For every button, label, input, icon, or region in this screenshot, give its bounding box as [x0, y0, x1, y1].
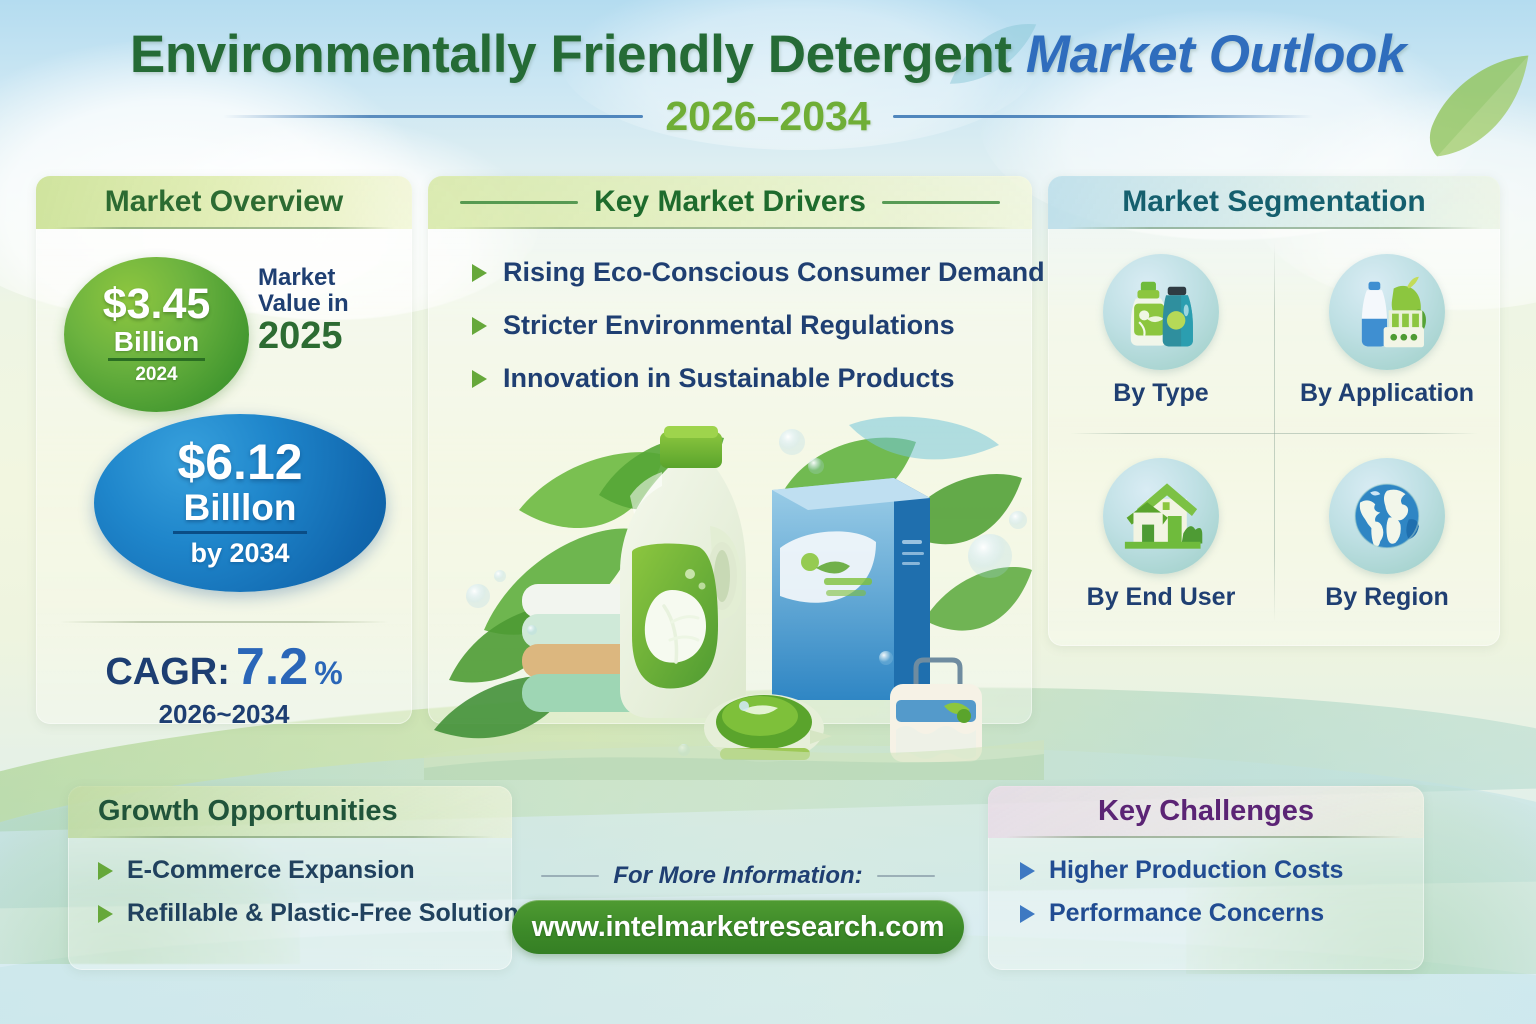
- growth-label: E-Commerce Expansion: [127, 856, 415, 885]
- website-url-button[interactable]: www.intelmarketresearch.com: [512, 900, 964, 954]
- market-value-2034-year: by 2034: [190, 538, 289, 569]
- more-information-label: For More Information:: [613, 862, 862, 890]
- cagr-row: CAGR: 7.2 %: [36, 637, 412, 697]
- key-challenges-list: Higher Production Costs Performance Conc…: [988, 838, 1424, 928]
- detergent-bottles-icon: [1103, 254, 1219, 370]
- list-item: Refillable & Plastic-Free Solutions: [98, 899, 512, 928]
- divider-right: [893, 115, 1313, 118]
- divider-left: [460, 201, 578, 204]
- market-overview-heading: Market Overview: [36, 176, 412, 229]
- divider-right: [877, 875, 935, 877]
- list-item: E-Commerce Expansion: [98, 856, 512, 885]
- market-value-2025-amount: $3.45: [103, 283, 211, 326]
- driver-label: Rising Eco-Conscious Consumer Demand: [503, 257, 1045, 288]
- key-market-drivers-heading-text: Key Market Drivers: [594, 185, 866, 219]
- triangle-bullet-icon: [472, 370, 487, 388]
- market-value-2034-amount: $6.12: [177, 437, 302, 487]
- title-primary: Environmentally Friendly Detergent: [130, 25, 1012, 84]
- infographic-poster: Environmentally Friendly Detergent Marke…: [0, 0, 1536, 1024]
- subtitle-years: 2026–2034: [665, 93, 870, 140]
- market-segmentation-grid: By Type: [1048, 229, 1500, 637]
- subtitle-row: 2026–2034: [0, 93, 1536, 140]
- growth-opportunities-list: E-Commerce Expansion Refillable & Plasti…: [68, 838, 512, 928]
- cagr-divider: [60, 621, 388, 623]
- bottle-factory-icon: [1329, 254, 1445, 370]
- driver-label: Innovation in Sustainable Products: [503, 363, 955, 394]
- market-value-2025-unit: Billion: [108, 327, 206, 361]
- list-item: Stricter Environmental Regulations: [472, 310, 1032, 341]
- market-value-label: MarketValue in 2025: [258, 265, 400, 357]
- key-challenges-panel: Key Challenges Higher Production Costs P…: [988, 786, 1424, 970]
- key-market-drivers-list: Rising Eco-Conscious Consumer Demand Str…: [428, 229, 1032, 394]
- key-challenges-heading: Key Challenges: [988, 786, 1424, 838]
- list-item: Rising Eco-Conscious Consumer Demand: [472, 257, 1032, 288]
- growth-label: Refillable & Plastic-Free Solutions: [127, 899, 533, 928]
- list-item: Higher Production Costs: [1020, 856, 1424, 885]
- divider-left: [541, 875, 599, 877]
- market-value-label-year: 2025: [258, 317, 400, 357]
- segmentation-cell-by-type[interactable]: By Type: [1048, 229, 1274, 433]
- list-item: Performance Concerns: [1020, 899, 1424, 928]
- triangle-bullet-icon: [1020, 905, 1035, 923]
- market-segmentation-panel: Market Segmentation: [1048, 176, 1500, 646]
- segmentation-label: By Type: [1113, 379, 1208, 408]
- market-value-2034-bubble: $6.12 Billlon by 2034: [94, 414, 386, 592]
- cagr-value: 7.2: [236, 637, 308, 697]
- divider-right: [882, 201, 1000, 204]
- driver-label: Stricter Environmental Regulations: [503, 310, 955, 341]
- segmentation-cell-by-region[interactable]: By Region: [1274, 433, 1500, 637]
- triangle-bullet-icon: [1020, 862, 1035, 880]
- growth-opportunities-heading: Growth Opportunities: [68, 786, 512, 838]
- page-title: Environmentally Friendly Detergent Marke…: [0, 26, 1536, 83]
- triangle-bullet-icon: [98, 905, 113, 923]
- segmentation-cell-by-application[interactable]: By Application: [1274, 229, 1500, 433]
- key-market-drivers-panel: Key Market Drivers Rising Eco-Conscious …: [428, 176, 1032, 724]
- market-overview-panel: Market Overview $3.45 Billion 2024 Marke…: [36, 176, 412, 724]
- triangle-bullet-icon: [472, 264, 487, 282]
- list-item: Innovation in Sustainable Products: [472, 363, 1032, 394]
- key-market-drivers-heading: Key Market Drivers: [428, 176, 1032, 229]
- cagr-percent-symbol: %: [314, 655, 342, 692]
- market-value-label-text: MarketValue in: [258, 265, 400, 316]
- market-value-2025-bubble: $3.45 Billion 2024: [64, 257, 249, 412]
- challenge-label: Performance Concerns: [1049, 899, 1324, 928]
- divider-left: [223, 115, 643, 118]
- more-information-section: For More Information: www.intelmarketres…: [478, 862, 998, 954]
- house-icon: [1103, 458, 1219, 574]
- market-segmentation-heading: Market Segmentation: [1048, 176, 1500, 229]
- title-secondary: Market Outlook: [1026, 25, 1406, 84]
- market-value-2025-year: 2024: [135, 364, 177, 386]
- triangle-bullet-icon: [472, 317, 487, 335]
- triangle-bullet-icon: [98, 862, 113, 880]
- segmentation-label: By Application: [1300, 379, 1474, 408]
- segmentation-cell-by-end-user[interactable]: By End User: [1048, 433, 1274, 637]
- growth-opportunities-panel: Growth Opportunities E-Commerce Expansio…: [68, 786, 512, 970]
- poster-header: Environmentally Friendly Detergent Marke…: [0, 26, 1536, 140]
- market-value-2034-unit: Billlon: [173, 489, 306, 533]
- globe-icon: [1329, 458, 1445, 574]
- market-overview-body: $3.45 Billion 2024 MarketValue in 2025 $…: [36, 229, 412, 715]
- segmentation-label: By End User: [1087, 583, 1236, 612]
- challenge-label: Higher Production Costs: [1049, 856, 1343, 885]
- cagr-period: 2026~2034: [36, 699, 412, 730]
- segmentation-label: By Region: [1325, 583, 1449, 612]
- more-information-row: For More Information:: [478, 862, 998, 890]
- cagr-label: CAGR:: [105, 651, 230, 694]
